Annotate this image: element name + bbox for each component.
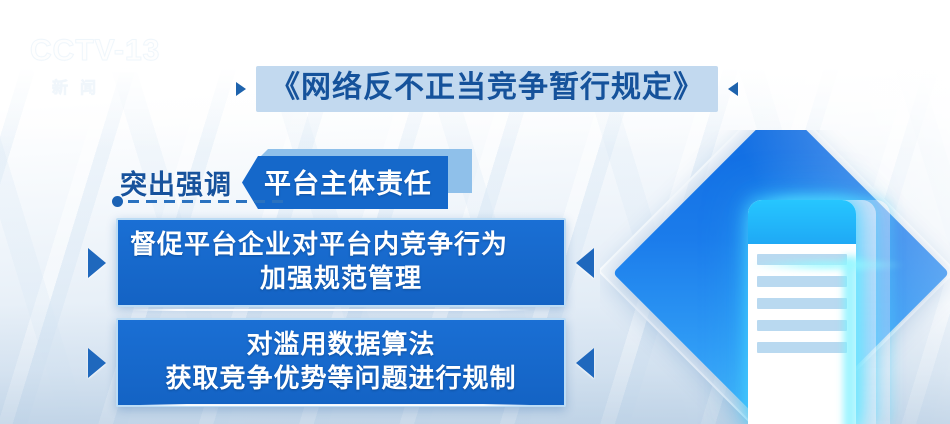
point-1-underline: [130, 309, 530, 311]
document-top-glow: [748, 258, 908, 272]
point-2-line-1: 对滥用数据算法: [130, 327, 552, 361]
document-line: [757, 320, 847, 331]
document-icon: [748, 200, 856, 424]
headline-title: 《网络反不正当竞争暂行规定》: [270, 71, 704, 105]
point-2-underline: [140, 404, 530, 406]
arrow-left-icon: [576, 348, 594, 378]
document-line: [757, 342, 847, 353]
dashed-rule: [128, 200, 286, 203]
headline-band: 《网络反不正当竞争暂行规定》: [256, 66, 718, 112]
arrow-left-icon: [576, 248, 594, 278]
document-stack: [748, 200, 888, 424]
triangle-right-icon: [236, 82, 246, 96]
broadcast-graphic-screen: CCTV-13 新闻: [0, 0, 950, 424]
document-line: [757, 276, 847, 287]
document-diamond-illustration: [600, 130, 950, 424]
point-2-line-2: 获取竞争优势等问题进行规制: [130, 361, 552, 395]
point-1-line-2: 加强规范管理: [130, 261, 552, 295]
point-box-2: 对滥用数据算法 获取竞争优势等问题进行规制: [116, 318, 566, 407]
point-box-1: 督促平台企业对平台内竞争行为 加强规范管理: [116, 218, 566, 307]
triangle-left-icon: [728, 82, 738, 96]
document-line: [757, 298, 847, 309]
point-row-1: 督促平台企业对平台内竞争行为 加强规范管理: [88, 218, 594, 307]
arrow-right-icon: [88, 248, 106, 278]
document-header-bar: [748, 200, 856, 244]
document-edge-glow: [844, 256, 870, 424]
point-1-line-1: 督促平台企业对平台内竞争行为: [130, 227, 552, 261]
arrow-right-icon: [88, 348, 106, 378]
headline-row: 《网络反不正当竞争暂行规定》: [236, 66, 738, 112]
point-row-2: 对滥用数据算法 获取竞争优势等问题进行规制: [88, 318, 594, 407]
dotted-connector: [112, 196, 286, 207]
bullet-dot-icon: [112, 196, 123, 207]
